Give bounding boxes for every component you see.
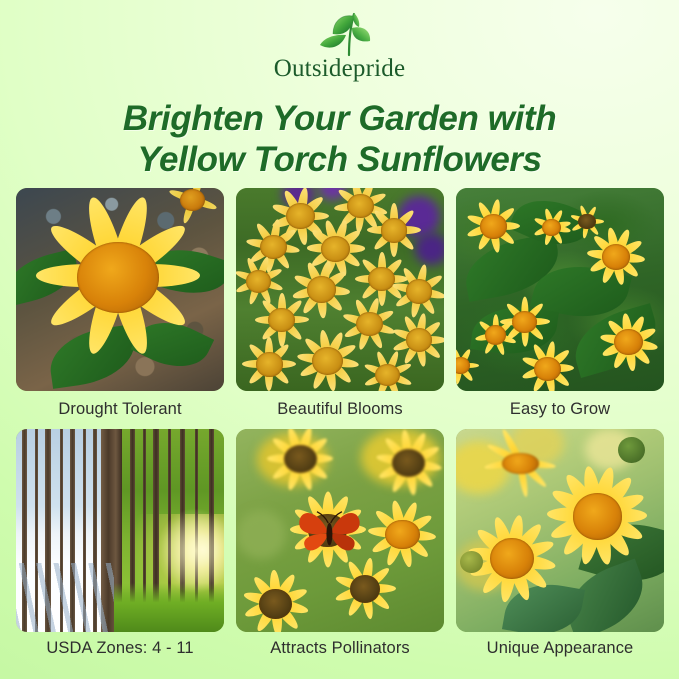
feature-caption: USDA Zones: 4 - 11 (16, 632, 224, 658)
butterfly-icon (292, 502, 367, 559)
feature-caption: Easy to Grow (456, 391, 664, 419)
feature-caption: Beautiful Blooms (236, 391, 444, 419)
sunflower-bloom (28, 200, 207, 354)
feature-caption: Unique Appearance (456, 632, 664, 658)
feature-image-unique-appearance (456, 429, 664, 632)
feature-grid: Drought Tolerant (16, 188, 664, 658)
page-title: Brighten Your Garden with Yellow Torch S… (0, 98, 679, 180)
headline-line-2: Yellow Torch Sunflowers (0, 139, 679, 180)
feature-card-drought-tolerant: Drought Tolerant (16, 188, 224, 419)
feature-card-unique-appearance: Unique Appearance (456, 429, 664, 658)
brand-name: Outsidepride (0, 56, 679, 81)
feature-caption: Drought Tolerant (16, 391, 224, 419)
feature-card-usda-zones: USDA Zones: 4 - 11 (16, 429, 224, 658)
feature-image-attracts-pollinators (236, 429, 444, 632)
feature-image-drought-tolerant (16, 188, 224, 391)
leaf-sprig-icon (297, 8, 383, 60)
feature-caption: Attracts Pollinators (236, 632, 444, 658)
brand-logo[interactable]: Outsidepride (0, 8, 679, 81)
flower-bud (460, 551, 483, 573)
feature-image-usda-zones (16, 429, 224, 632)
blurred-bloom (236, 510, 286, 559)
product-feature-poster: Outsidepride Brighten Your Garden with Y… (0, 0, 679, 679)
feature-card-beautiful-blooms: Beautiful Blooms (236, 188, 444, 419)
sun-flare (16, 429, 224, 632)
feature-card-attracts-pollinators: Attracts Pollinators (236, 429, 444, 658)
headline-line-1: Brighten Your Garden with (0, 98, 679, 139)
feature-image-easy-to-grow (456, 188, 664, 391)
feature-card-easy-to-grow: Easy to Grow (456, 188, 664, 419)
feature-image-beautiful-blooms (236, 188, 444, 391)
